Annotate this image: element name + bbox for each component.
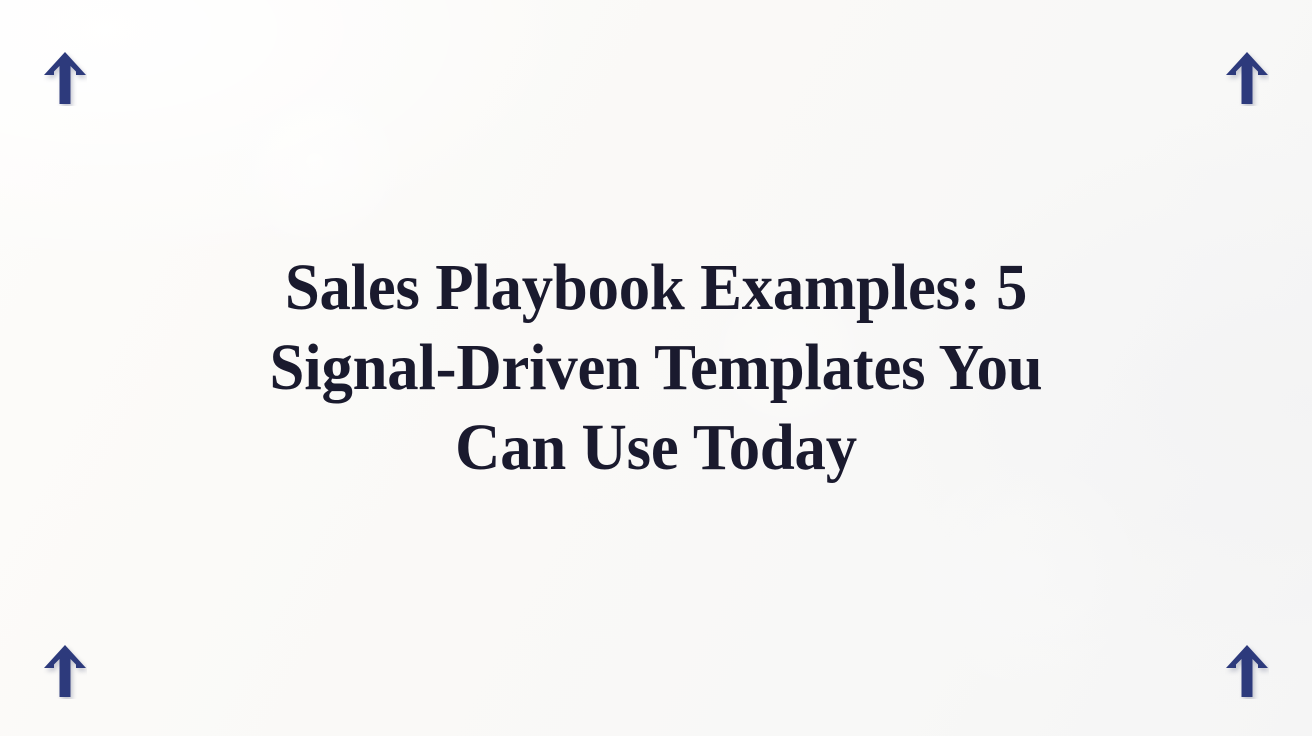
- slide-canvas: Sales Playbook Examples: 5 Signal-Driven…: [0, 0, 1312, 736]
- page-title: Sales Playbook Examples: 5 Signal-Driven…: [267, 248, 1046, 488]
- headline-container: Sales Playbook Examples: 5 Signal-Driven…: [0, 0, 1312, 736]
